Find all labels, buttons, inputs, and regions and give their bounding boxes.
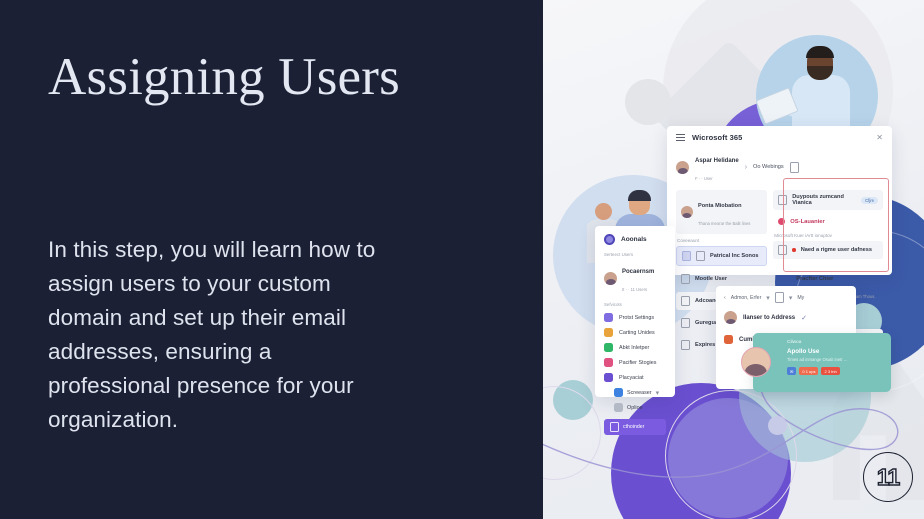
list-item[interactable]: Patrical Inc Sonos <box>676 246 767 266</box>
list-item-label: Patrical Inc Sonos <box>710 253 759 259</box>
admin-primary-row[interactable]: IIanser to Address ✓ <box>716 308 856 330</box>
folder-icon <box>681 296 690 306</box>
sidebar-subitem-screeaser[interactable]: Screeaser ▾ <box>595 385 675 400</box>
sidebar-item-label: Protst Settings <box>619 315 654 321</box>
copy-icon[interactable] <box>790 162 799 173</box>
folder-icon <box>682 251 691 261</box>
highlight-title-row: OS-Lauanier <box>773 214 883 229</box>
sidebar-user-name: Pocaernsm <box>622 269 654 275</box>
person-a-head <box>595 203 612 220</box>
right-header-row[interactable]: Duypouts zumcand Vianica Cfjre <box>773 190 883 210</box>
sidebar-section-users: Serteect Users <box>595 252 675 260</box>
illustration-panel: Wicrosoft 365 ✕ Aspar Helidane F · · Use… <box>543 0 924 519</box>
avatar <box>741 347 771 377</box>
sidebar-item-label: Pacifier Stogies <box>619 360 656 366</box>
mock-window-sidebar[interactable]: Aoonals Serteect Users Pocaernsm It · · … <box>595 226 675 397</box>
featured-user-sub: Thana meorar the Balit lines <box>698 221 750 226</box>
breadcrumb-user-sub: F · · User <box>695 176 713 181</box>
app-icon <box>724 335 733 344</box>
app-icon <box>614 403 623 412</box>
status-badge: Cfjre <box>861 197 878 204</box>
sidebar-item-label: Abkt Inletper <box>619 345 649 351</box>
page-number-badge: 11 <box>863 452 913 502</box>
alert-dot-icon <box>792 248 796 252</box>
avatar <box>724 311 737 324</box>
sidebar-item-pacifier-stogies[interactable]: Pacifier Stogies <box>595 355 675 370</box>
folder-icon <box>681 318 690 328</box>
sidebar-item-label: Placyaciat <box>619 375 644 381</box>
sidebar-item-label: Carting Unides <box>619 330 655 336</box>
sidebar-item-carting-unides[interactable]: Carting Unides <box>595 325 675 340</box>
sidebar-subitem-label: Screeaser <box>627 390 652 396</box>
background-circle-gray-small <box>625 79 671 125</box>
app-icon <box>604 358 613 367</box>
decorative-squiggle-dot <box>768 416 787 435</box>
list-item-label: Expires <box>695 342 715 348</box>
status-dot-icon <box>778 218 785 225</box>
doc-icon <box>696 251 705 261</box>
app-icon <box>604 328 613 337</box>
sidebar-brand: Aoonals <box>595 234 675 252</box>
toast-badge[interactable]: 2 3 fnh <box>821 367 839 375</box>
sidebar-cta-pill[interactable]: cthoinder <box>604 419 666 435</box>
admin-toolbar: ‹ Admon, Erfer ▾ ▾ My <box>716 286 856 308</box>
app-icon <box>604 373 613 382</box>
slide-root: Assigning Users In this step, you will l… <box>0 0 924 519</box>
back-icon[interactable]: ‹ <box>724 295 726 301</box>
hamburger-menu-icon[interactable] <box>676 134 685 141</box>
right-user-title: Pracfter Chier <box>796 276 833 282</box>
avatar <box>604 272 617 285</box>
brand-name: Aoonals <box>621 236 647 243</box>
person-b-hair <box>628 190 651 201</box>
copy-icon[interactable] <box>775 292 784 303</box>
featured-user-card[interactable]: Ponta Miobation Thana meorar the Balit l… <box>676 190 767 234</box>
admin-row-title: IIanser to Address <box>743 315 795 321</box>
sidebar-item-protst-settings[interactable]: Protst Settings <box>595 310 675 325</box>
list-item-label: Mootle User <box>695 276 727 282</box>
app-icon <box>604 343 613 352</box>
sidebar-item-abkt-inletper[interactable]: Abkt Inletper <box>595 340 675 355</box>
chevron-down-icon[interactable]: ▾ <box>766 294 770 302</box>
chevron-down-icon[interactable]: ▾ <box>789 294 793 302</box>
avatar <box>676 161 689 174</box>
toast-title: Apollo Use <box>787 348 883 355</box>
page-body-text: In this step, you will learn how to assi… <box>48 233 378 437</box>
chevron-right-icon: › <box>745 164 747 171</box>
page-title: Assigning Users <box>48 48 468 107</box>
sidebar-subitem-oplioe[interactable]: Oplioe <box>595 400 675 415</box>
chevron-down-icon[interactable]: ▾ <box>656 389 660 397</box>
window-breadcrumb-row: Aspar Helidane F · · User › Oo Webings <box>667 147 892 190</box>
toast-card[interactable]: Cilwoa Apollo Use Times ad inmange Osuti… <box>753 333 891 392</box>
doc-icon <box>778 245 787 255</box>
mock-window-main[interactable]: Wicrosoft 365 ✕ Aspar Helidane F · · Use… <box>667 126 892 275</box>
check-icon[interactable]: ✓ <box>801 314 807 322</box>
page-number: 11 <box>877 464 899 491</box>
toast-badge[interactable]: 0 1 ops <box>799 367 818 375</box>
lock-icon <box>610 422 619 432</box>
window-titlebar: Wicrosoft 365 ✕ <box>667 126 892 147</box>
right-header-label: Duypouts zumcand Vianica <box>792 194 856 206</box>
sidebar-item-placyaciat[interactable]: Placyaciat <box>595 370 675 385</box>
avatar <box>681 206 693 218</box>
close-icon[interactable]: ✕ <box>876 134 883 142</box>
brand-logo-icon <box>604 234 615 245</box>
highlight-title: OS-Lauanier <box>790 219 824 225</box>
breadcrumb-user-name: Aspar Helidane <box>695 158 739 164</box>
highlight-note-row[interactable]: Naed a rigme user dafness <box>773 241 883 259</box>
sidebar-cta-label: cthoinder <box>623 424 644 430</box>
sidebar-user[interactable]: Pocaernsm It · · 11 Users <box>595 260 675 302</box>
app-icon <box>604 313 613 322</box>
toast-badge-row: ✉ 0 1 ops 2 3 fnh <box>787 367 883 375</box>
featured-user-title: Ponta Miobation <box>698 203 742 209</box>
window-title: Wicrosoft 365 <box>692 133 742 142</box>
highlight-sub: Microsoft Kuer iArtt ionuptov <box>774 233 883 238</box>
sidebar-subitem-label: Oplioe <box>627 405 643 411</box>
doc-icon <box>681 340 690 350</box>
breadcrumb-item[interactable]: Oo Webings <box>753 164 784 170</box>
toast-subtitle: Times ad inmange Osutit inetr ... <box>787 357 883 363</box>
sidebar-section-services: Sefvicots <box>595 302 675 310</box>
highlight-note: Naed a rigme user dafness <box>801 247 872 253</box>
sidebar-user-sub: It · · 11 Users <box>622 287 647 292</box>
left-content-panel: Assigning Users In this step, you will l… <box>0 0 543 519</box>
folder-icon <box>681 274 690 284</box>
mail-icon[interactable]: ✉ <box>787 367 796 375</box>
admin-breadcrumb[interactable]: Admon, Erfer <box>731 295 762 301</box>
toast-kicker: Cilwoa <box>787 340 883 345</box>
section-label: Coveeaunt <box>677 238 767 243</box>
doc-icon <box>778 195 787 205</box>
admin-breadcrumb-secondary[interactable]: My <box>797 295 804 301</box>
app-icon <box>614 388 623 397</box>
